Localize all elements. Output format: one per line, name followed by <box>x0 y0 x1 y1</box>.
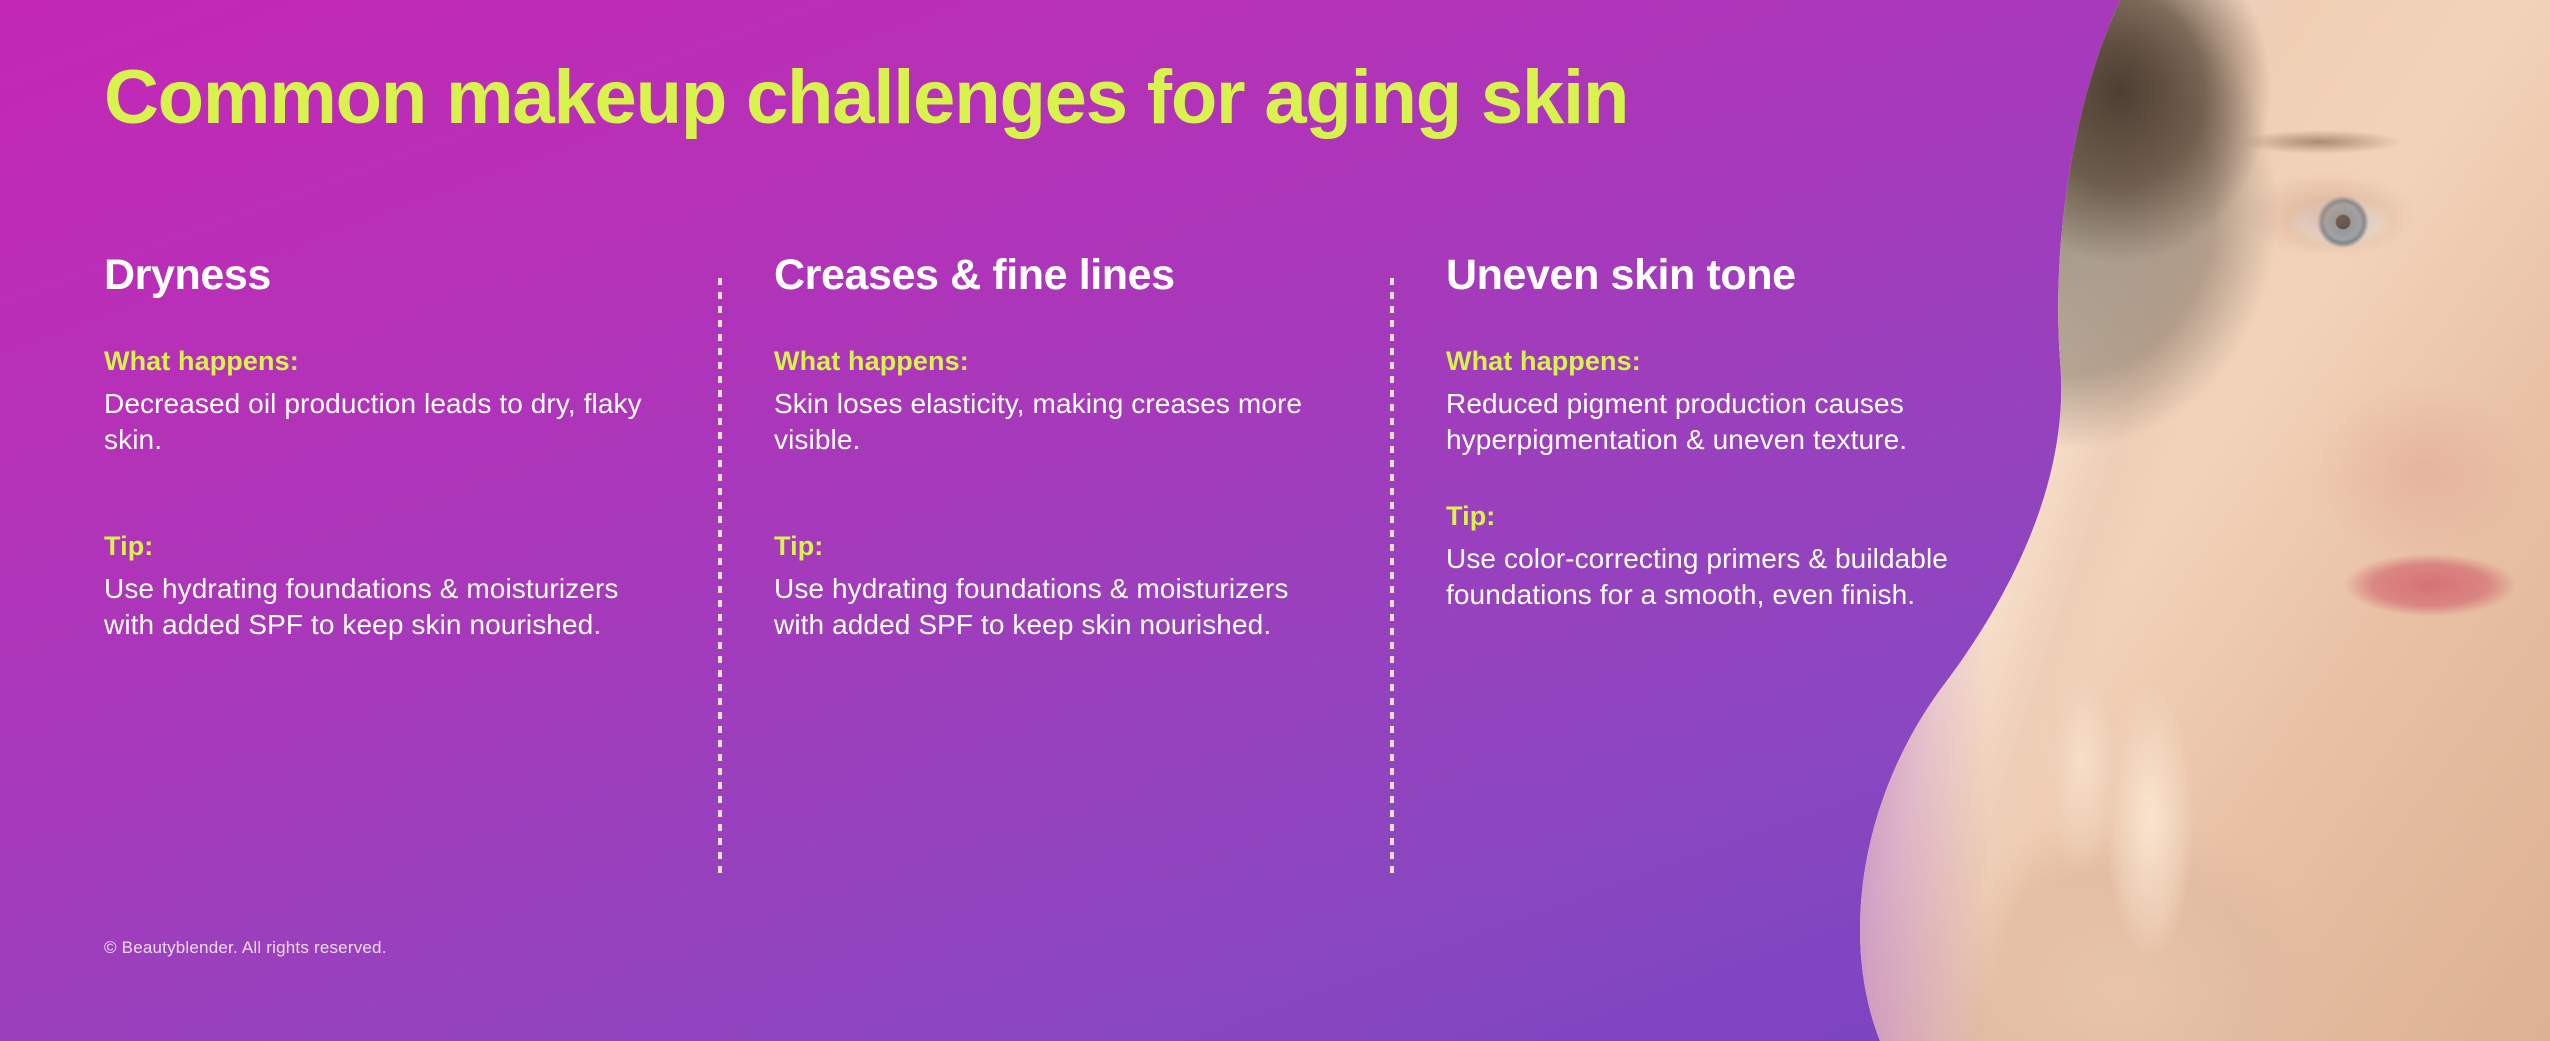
copyright-notice: © Beautyblender. All rights reserved. <box>104 938 387 958</box>
section-spacer <box>774 458 1334 530</box>
challenge-columns: Dryness What happens: Decreased oil prod… <box>104 252 2034 644</box>
infographic-banner: Common makeup challenges for aging skin … <box>0 0 2550 1041</box>
banner-content: Common makeup challenges for aging skin … <box>0 0 2550 1041</box>
challenge-column-dryness: Dryness What happens: Decreased oil prod… <box>104 252 718 644</box>
tip-text: Use color-correcting primers & buildable… <box>1446 541 2034 614</box>
tip-label: Tip: <box>774 530 1334 562</box>
challenge-column-uneven-skin-tone: Uneven skin tone What happens: Reduced p… <box>1390 252 2034 614</box>
section-spacer <box>1446 458 2034 500</box>
challenge-column-creases-fine-lines: Creases & fine lines What happens: Skin … <box>718 252 1390 644</box>
section-spacer <box>104 458 662 530</box>
tip-label: Tip: <box>1446 500 2034 532</box>
column-heading: Dryness <box>104 252 662 299</box>
what-happens-text: Skin loses elasticity, making creases mo… <box>774 386 1334 459</box>
what-happens-label: What happens: <box>774 345 1334 377</box>
tip-label: Tip: <box>104 530 662 562</box>
tip-text: Use hydrating foundations & moisturizers… <box>774 571 1334 644</box>
what-happens-label: What happens: <box>1446 345 2034 377</box>
what-happens-text: Reduced pigment production causes hyperp… <box>1446 386 2034 459</box>
what-happens-label: What happens: <box>104 345 662 377</box>
tip-text: Use hydrating foundations & moisturizers… <box>104 571 662 644</box>
page-title: Common makeup challenges for aging skin <box>104 58 1628 139</box>
column-heading: Uneven skin tone <box>1446 252 2034 299</box>
column-heading: Creases & fine lines <box>774 252 1334 299</box>
what-happens-text: Decreased oil production leads to dry, f… <box>104 386 662 459</box>
